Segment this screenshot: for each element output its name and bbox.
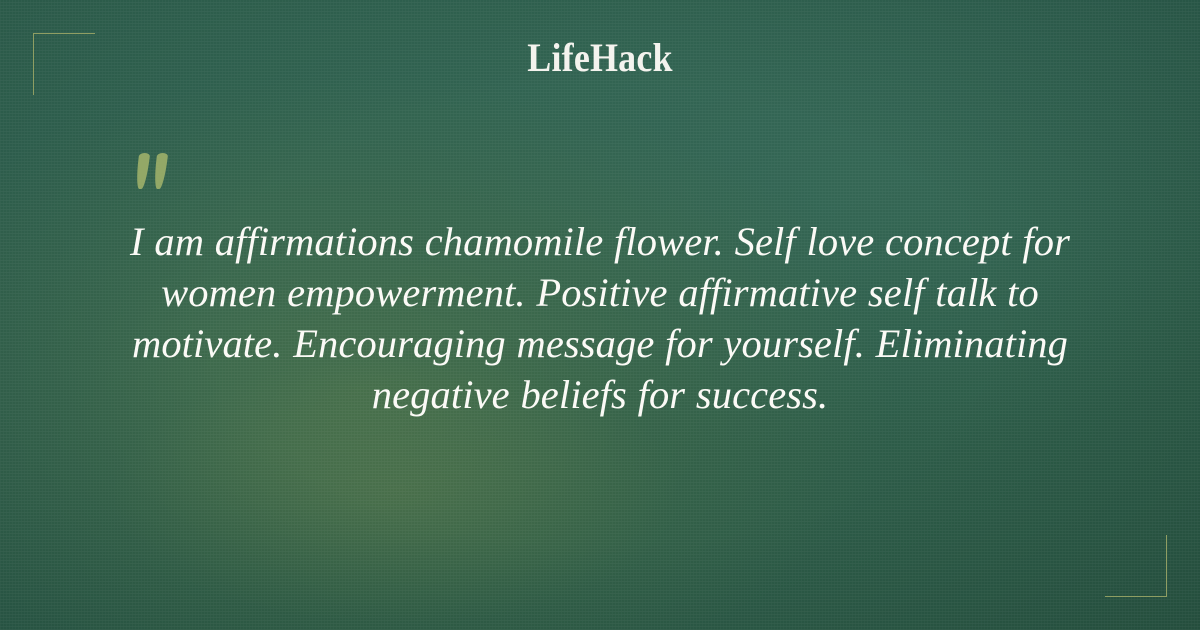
quotation-mark-stroke-right bbox=[153, 153, 168, 189]
brand-wordmark: LifeHack bbox=[60, 38, 1140, 78]
quote-text: I am affirmations chamomile flower. Self… bbox=[100, 216, 1100, 420]
quote-line: I am affirmations chamomile flower. Self… bbox=[100, 216, 1100, 267]
corner-bracket-bottom-right-icon bbox=[1105, 535, 1167, 597]
quotation-mark-stroke-left bbox=[135, 153, 150, 189]
quotation-mark-icon bbox=[136, 153, 170, 191]
quote-card: LifeHack I am affirmations chamomile flo… bbox=[0, 0, 1200, 630]
quote-line: motivate. Encouraging message for yourse… bbox=[100, 318, 1100, 369]
quote-line: women empowerment. Positive affirmative … bbox=[100, 267, 1100, 318]
quote-line: negative beliefs for success. bbox=[100, 369, 1100, 420]
